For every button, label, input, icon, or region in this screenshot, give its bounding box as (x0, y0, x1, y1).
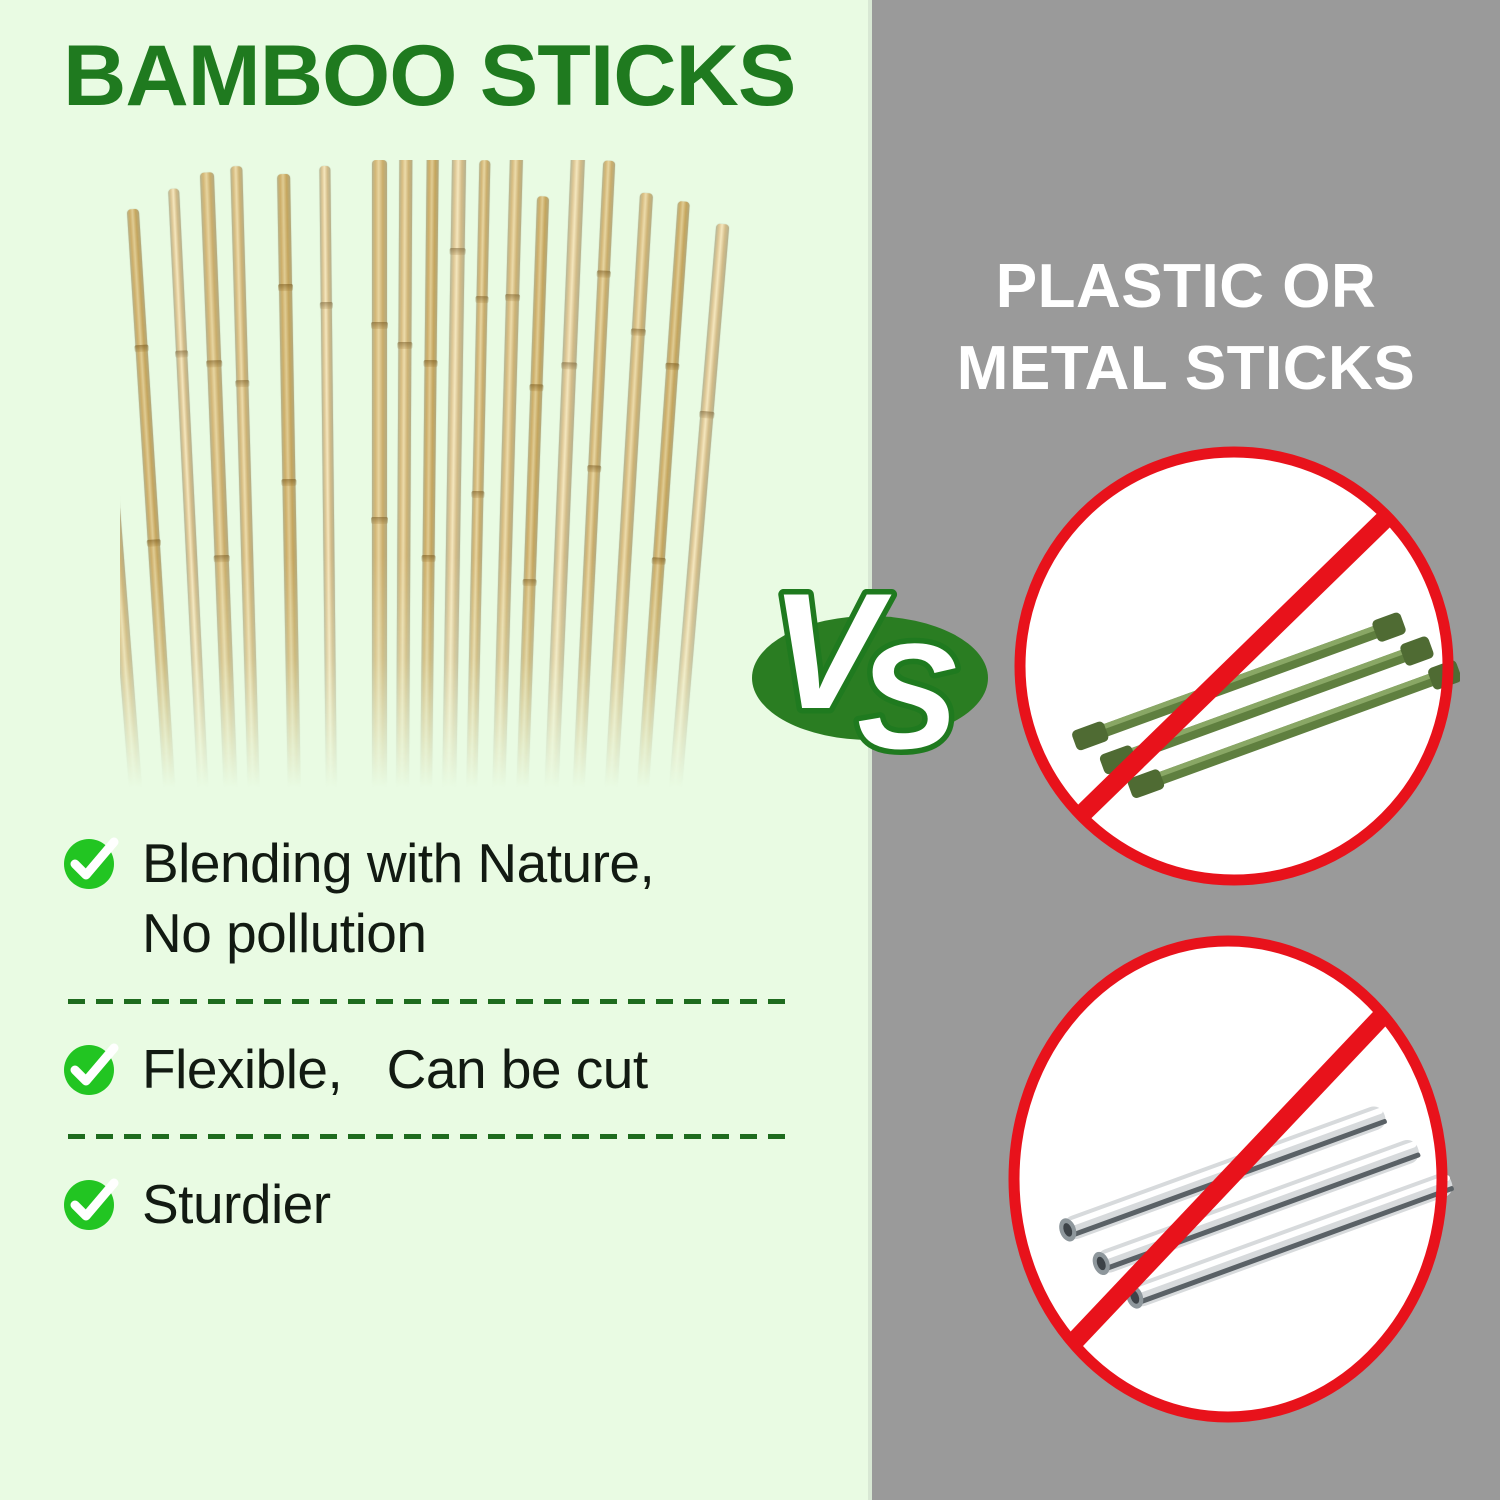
heading-line-1: PLASTIC OR (880, 246, 1492, 328)
check-circle-icon (62, 834, 120, 892)
bamboo-node (665, 363, 679, 371)
bamboo-cane (420, 146, 439, 800)
bamboo-cane (442, 138, 466, 800)
bamboo-node (147, 539, 161, 547)
bamboo-node (278, 284, 293, 291)
bamboo-node (505, 294, 520, 301)
bamboo-node (206, 360, 222, 368)
feature-label: Sturdier (142, 1169, 331, 1239)
bamboo-cane (516, 196, 549, 800)
check-circle-icon (62, 1175, 120, 1233)
bamboo-node (699, 411, 715, 419)
heading-line-2: METAL STICKS (880, 328, 1492, 410)
bamboo-node (450, 248, 466, 255)
svg-text:S: S (857, 612, 957, 758)
prohibition-metal-tubes (1002, 928, 1454, 1430)
bamboo-node (561, 362, 577, 370)
list-item: Sturdier (62, 1169, 822, 1239)
bamboo-cane (230, 166, 260, 800)
bamboo-cane (319, 166, 337, 800)
right-panel-heading: PLASTIC OR METAL STICKS (880, 246, 1492, 411)
bamboo-node (651, 557, 665, 565)
page-title: BAMBOO STICKS (63, 33, 795, 119)
bamboo-cane (396, 154, 412, 800)
list-divider (68, 999, 794, 1004)
versus-badge: V S (752, 558, 997, 758)
bamboo-node (281, 479, 296, 486)
bamboo-node (175, 350, 188, 358)
list-divider (68, 1134, 794, 1139)
bamboo-cane (168, 188, 209, 800)
bamboo-node (522, 579, 536, 586)
bamboo-node (424, 360, 438, 367)
bamboo-node (631, 328, 646, 336)
bamboo-node (214, 555, 230, 563)
bamboo-node (397, 342, 412, 349)
bamboo-node (421, 555, 435, 562)
prohibition-plastic-stakes (1008, 440, 1460, 892)
feature-list: Blending with Nature, No pollution Flexi… (62, 828, 822, 1240)
feature-label: Blending with Nature, No pollution (142, 828, 654, 969)
bamboo-node (597, 270, 611, 278)
product-comparison-infographic: BAMBOO STICKS V S Blending with Na (0, 0, 1500, 1500)
bamboo-node (371, 322, 388, 329)
bamboo-cane (466, 160, 490, 800)
bamboo-node (529, 384, 543, 391)
bamboo-node (371, 517, 388, 524)
bamboo-node (471, 491, 484, 498)
list-item: Blending with Nature, No pollution (62, 828, 822, 1004)
bamboo-cane (372, 160, 387, 800)
bamboo-cane-group (120, 160, 740, 800)
bamboo-node (587, 465, 601, 473)
bamboo-node (475, 296, 488, 303)
bamboo-cane (277, 174, 301, 800)
bamboo-node (235, 380, 249, 387)
check-circle-icon (62, 1040, 120, 1098)
bamboo-sticks-photo (120, 160, 740, 800)
feature-label: Flexible, Can be cut (142, 1034, 648, 1104)
list-item: Flexible, Can be cut (62, 1034, 822, 1139)
bamboo-node (320, 302, 333, 309)
bamboo-node (134, 344, 148, 352)
